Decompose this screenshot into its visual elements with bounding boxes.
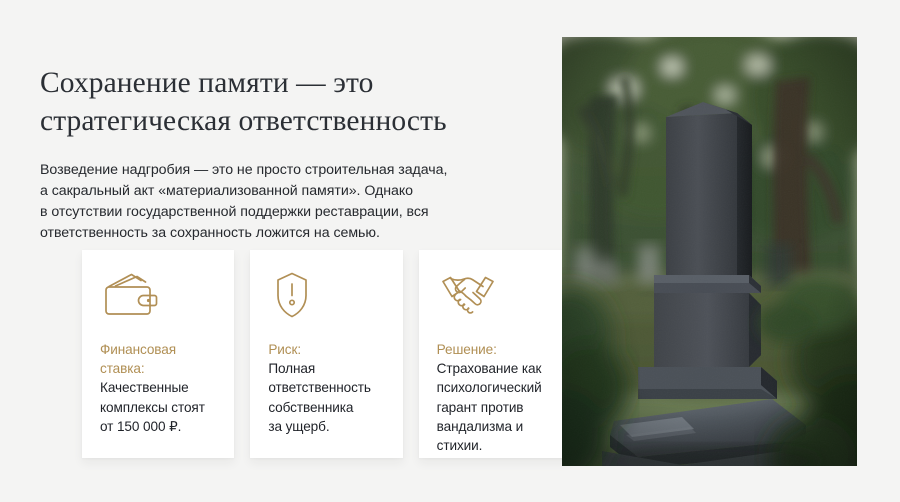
- info-card-financial-stake[interactable]: Финансовая ставка: Качественные комплекс…: [82, 250, 234, 458]
- info-card-list: Финансовая ставка: Качественные комплекс…: [82, 250, 571, 458]
- monument-photo: [562, 37, 857, 466]
- info-card-label: Риск:: [268, 340, 394, 359]
- info-card-body: Качественные комплексы стоят от 150 000 …: [100, 378, 226, 436]
- lead-paragraph: Возведение надгробия — это не просто стр…: [40, 160, 510, 244]
- handshake-icon: [437, 268, 499, 324]
- info-card-body: Страхование как психологический гарант п…: [437, 359, 563, 455]
- info-card-body: Полная ответственность собственника за у…: [268, 359, 394, 436]
- left-content-column: Сохранение памяти — это стратегическая о…: [40, 0, 540, 502]
- info-card-text: Риск: Полная ответственность собственник…: [268, 340, 394, 436]
- info-card-text: Финансовая ставка: Качественные комплекс…: [100, 340, 226, 436]
- info-card-label: Финансовая ставка:: [100, 340, 226, 378]
- info-card-risk[interactable]: Риск: Полная ответственность собственник…: [250, 250, 402, 458]
- slide-root: Сохранение памяти — это стратегическая о…: [0, 0, 900, 502]
- shield-alert-icon: [268, 268, 330, 324]
- info-card-text: Решение: Страхование как психологический…: [437, 340, 563, 455]
- info-card-solution[interactable]: Решение: Страхование как психологический…: [419, 250, 571, 458]
- info-card-label: Решение:: [437, 340, 563, 359]
- page-title: Сохранение памяти — это стратегическая о…: [40, 64, 540, 140]
- wallet-icon: [100, 268, 162, 324]
